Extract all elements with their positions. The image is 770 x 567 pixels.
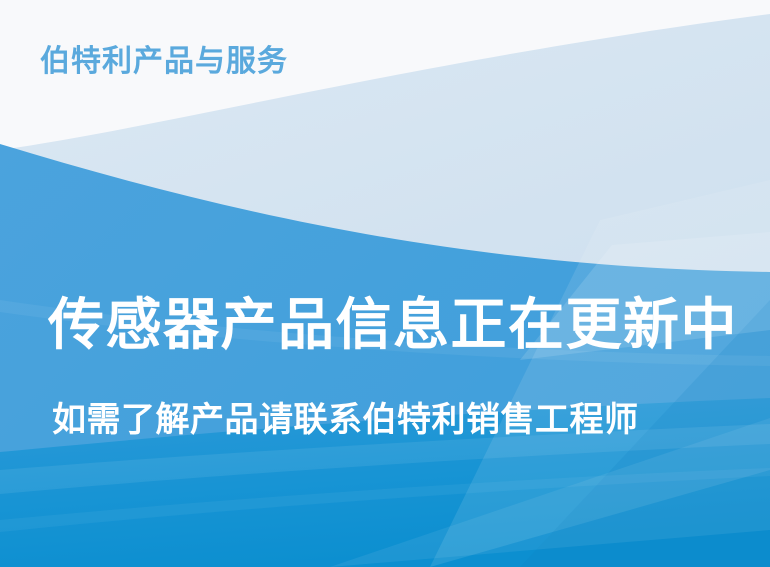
subheadline: 如需了解产品请联系伯特利销售工程师: [52, 402, 639, 439]
headline: 传感器产品信息正在更新中: [48, 296, 738, 355]
product-notice-banner: 伯特利产品与服务 传感器产品信息正在更新中 如需了解产品请联系伯特利销售工程师: [0, 0, 770, 567]
brand-title: 伯特利产品与服务: [40, 44, 288, 80]
text-layer: 伯特利产品与服务 传感器产品信息正在更新中 如需了解产品请联系伯特利销售工程师: [0, 0, 770, 567]
